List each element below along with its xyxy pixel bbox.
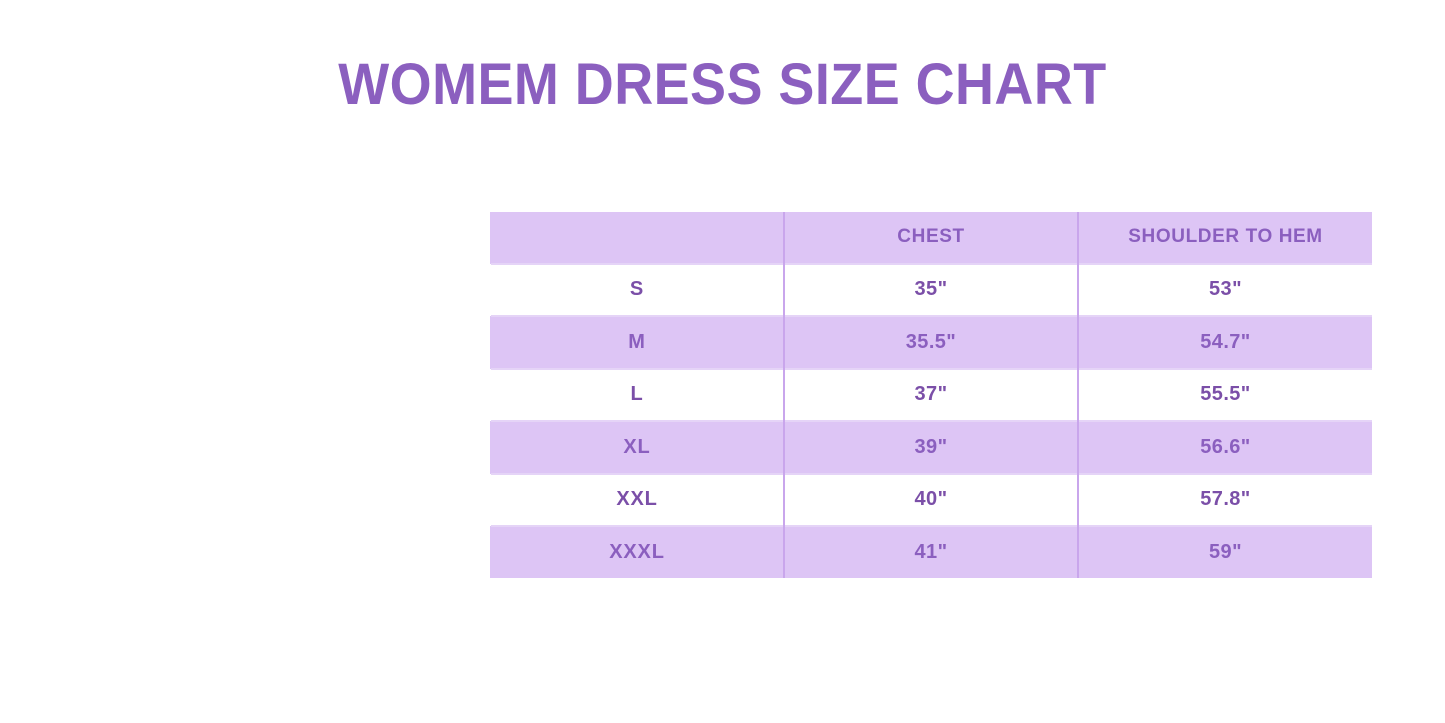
table-row: XXL 40" 57.8"	[490, 474, 1372, 527]
table-row: L 37" 55.5"	[490, 369, 1372, 422]
column-header-chest: CHEST	[784, 212, 1078, 264]
table-row: M 35.5" 54.7"	[490, 316, 1372, 369]
size-chart-page: WOMEM DRESS SIZE CHART CHEST SHOULDER TO…	[0, 0, 1445, 723]
page-title: WOMEM DRESS SIZE CHART	[51, 52, 1395, 118]
size-chart-table: CHEST SHOULDER TO HEM S 35" 53" M 35.5" …	[489, 212, 1372, 578]
column-header-shoulder-to-hem: SHOULDER TO HEM	[1078, 212, 1372, 264]
cell-shoulder-to-hem: 56.6"	[1078, 421, 1372, 474]
cell-size: S	[490, 264, 784, 317]
table-row: S 35" 53"	[490, 264, 1372, 317]
cell-size: L	[490, 369, 784, 422]
cell-shoulder-to-hem: 57.8"	[1078, 474, 1372, 527]
cell-shoulder-to-hem: 53"	[1078, 264, 1372, 317]
cell-chest: 39"	[784, 421, 1078, 474]
cell-shoulder-to-hem: 59"	[1078, 526, 1372, 578]
table-header-row: CHEST SHOULDER TO HEM	[490, 212, 1372, 264]
cell-size: XXL	[490, 474, 784, 527]
column-header-size	[490, 212, 784, 264]
cell-chest: 41"	[784, 526, 1078, 578]
cell-chest: 40"	[784, 474, 1078, 527]
size-chart-table-container: CHEST SHOULDER TO HEM S 35" 53" M 35.5" …	[489, 212, 1371, 578]
table-header: CHEST SHOULDER TO HEM	[490, 212, 1372, 264]
cell-shoulder-to-hem: 54.7"	[1078, 316, 1372, 369]
cell-chest: 35"	[784, 264, 1078, 317]
table-row: XL 39" 56.6"	[490, 421, 1372, 474]
cell-size: M	[490, 316, 784, 369]
table-row: XXXL 41" 59"	[490, 526, 1372, 578]
cell-chest: 35.5"	[784, 316, 1078, 369]
cell-size: XL	[490, 421, 784, 474]
cell-size: XXXL	[490, 526, 784, 578]
cell-shoulder-to-hem: 55.5"	[1078, 369, 1372, 422]
table-body: S 35" 53" M 35.5" 54.7" L 37" 55.5" XL 3…	[490, 264, 1372, 578]
cell-chest: 37"	[784, 369, 1078, 422]
